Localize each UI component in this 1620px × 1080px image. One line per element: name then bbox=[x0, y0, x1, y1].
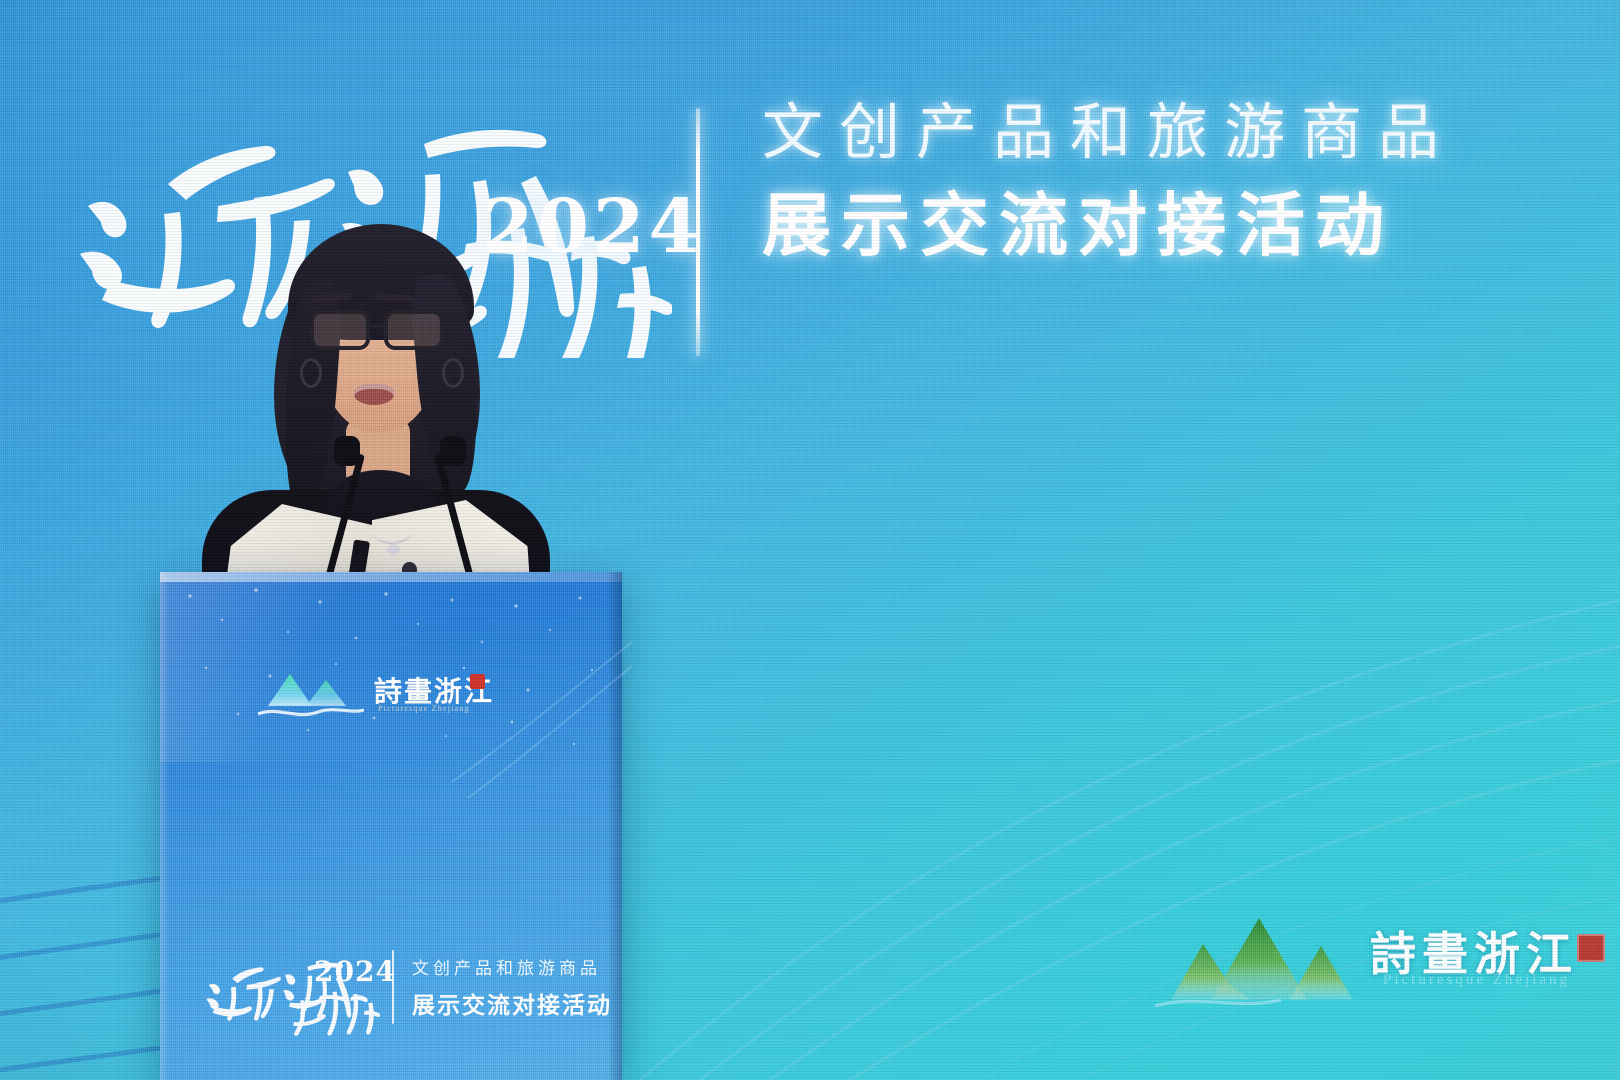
podium: 詩畫浙江 Picturesque Zhejiang bbox=[160, 572, 622, 1080]
glasses-bridge bbox=[370, 324, 388, 328]
podium-divider bbox=[392, 950, 394, 1024]
podium-brand-logo: 詩畫浙江 Picturesque Zhejiang bbox=[258, 660, 558, 730]
mouth bbox=[354, 384, 394, 405]
podium-top-edge bbox=[160, 572, 622, 582]
podium-year: 2024 bbox=[314, 958, 396, 986]
necklace-chain bbox=[372, 518, 412, 544]
corner-mountain-icon bbox=[1155, 888, 1385, 1008]
glasses-lens-left bbox=[310, 310, 370, 350]
microphone-left-head bbox=[334, 436, 360, 466]
corner-brand-seal bbox=[1576, 928, 1606, 958]
podium-brand-english: Picturesque Zhejiang bbox=[378, 704, 470, 713]
podium-title-band: 2024 文创产品和旅游商品 展示交流对接活动 bbox=[204, 942, 624, 1052]
podium-event-line-2: 展示交流对接活动 bbox=[412, 986, 612, 1020]
microphone-right-head bbox=[440, 436, 466, 466]
podium-left-edge bbox=[160, 572, 169, 1080]
podium-brand-seal bbox=[470, 674, 485, 689]
podium-event-line-1: 文创产品和旅游商品 bbox=[412, 954, 601, 979]
glasses-lens-right bbox=[384, 310, 444, 350]
earring-left bbox=[300, 358, 322, 388]
stage-photo: 2024 文创产品和旅游商品 展示交流对接活动 bbox=[0, 0, 1620, 1080]
glasses bbox=[306, 308, 456, 354]
speaker-figure bbox=[196, 222, 556, 622]
corner-brand-logo: 詩畫浙江 Picturesque Zhejiang bbox=[1155, 888, 1585, 1028]
headline-divider bbox=[696, 108, 700, 356]
corner-brand-english: Picturesque Zhejiang bbox=[1383, 972, 1570, 989]
event-title-line-1: 文创产品和旅游商品 bbox=[762, 100, 1562, 164]
event-title-line-2: 展示交流对接活动 bbox=[762, 190, 1562, 262]
earring-right bbox=[442, 358, 464, 388]
podium-mountain-icon bbox=[258, 664, 364, 722]
event-title-block: 文创产品和旅游商品 展示交流对接活动 bbox=[762, 100, 1562, 262]
